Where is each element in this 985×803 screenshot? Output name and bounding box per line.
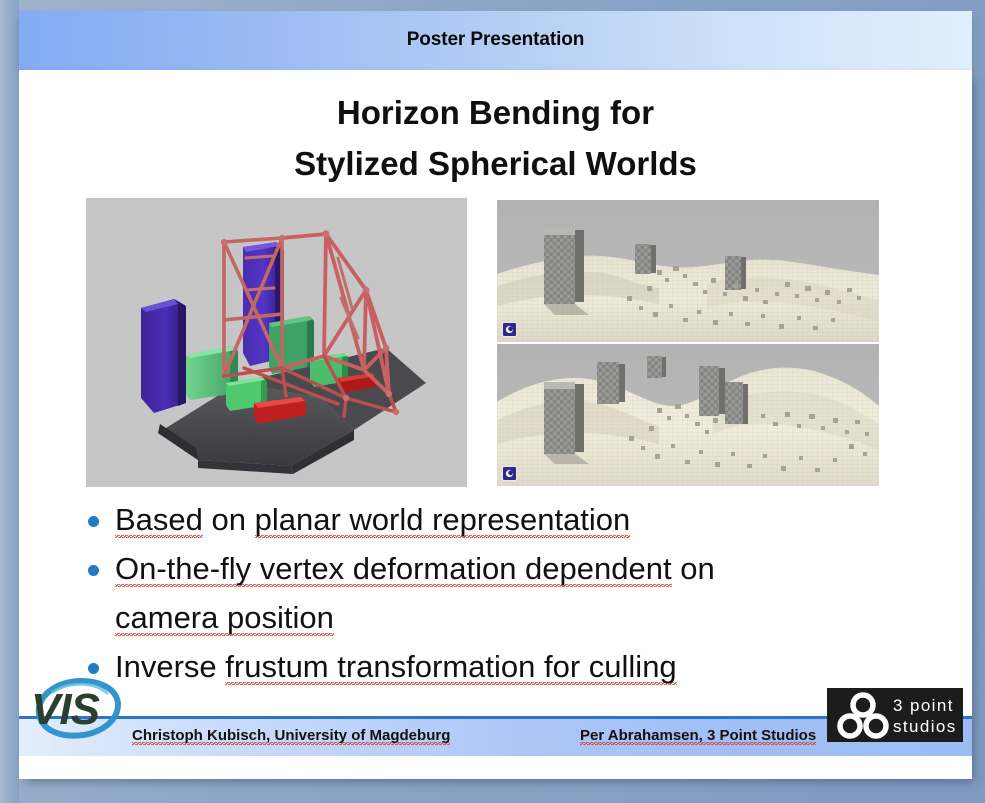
bullet-list: Based on planar world representationOn-t…: [71, 497, 921, 693]
figure-terrain-renders: [497, 200, 879, 487]
page-title: Poster Presentation: [19, 29, 972, 51]
plain-text: on: [203, 502, 255, 537]
terrain-bent-graphic: [497, 344, 879, 486]
render-watermark-icon: [502, 466, 517, 481]
vis-logo-graphic: VIS: [23, 672, 135, 754]
bullet-item: Based on planar world representation: [71, 497, 921, 543]
slide-title-line-1: Horizon Bending for: [19, 87, 972, 138]
terrain-tower: [544, 382, 589, 464]
figure-row: [19, 198, 972, 490]
footer-author-left-text: Christoph Kubisch, University of Magdebu…: [132, 727, 450, 748]
slide-title-line-2: Stylized Spherical Worlds: [19, 138, 972, 189]
footer-author-right: Per Abrahamsen, 3 Point Studios: [580, 727, 816, 744]
render-watermark-icon: [502, 322, 517, 337]
terrain-tower: [597, 362, 625, 404]
terrain-flat-graphic: [497, 200, 879, 342]
planar-world-render-graphic: [86, 198, 467, 487]
spellcheck-text: planar world representation: [255, 502, 631, 541]
terrain-tower: [647, 356, 666, 378]
terrain-tower: [635, 244, 656, 274]
bullet-item: camera position: [71, 595, 921, 641]
terrain-tower: [544, 228, 589, 315]
figure-planar-world-render: [86, 198, 467, 487]
vis-logo: VIS: [23, 672, 135, 754]
bullet-text: Inverse frustum transformation for culli…: [115, 649, 677, 688]
header-bar: Poster Presentation: [19, 11, 972, 70]
figure-terrain-bent-horizon: [497, 344, 879, 486]
footer-author-right-text: Per Abrahamsen, 3 Point Studios: [580, 727, 816, 748]
vis-logo-text: VIS: [31, 685, 100, 734]
slide-content-panel: Horizon Bending for Stylized Spherical W…: [19, 70, 972, 779]
bullet-item: Inverse frustum transformation for culli…: [71, 644, 921, 690]
bullet-dot-icon: [88, 516, 99, 527]
bullet-text: Based on planar world representation: [115, 502, 630, 541]
slide-title: Horizon Bending for Stylized Spherical W…: [19, 87, 972, 189]
bullet-item: On-the-fly vertex deformation dependent …: [71, 546, 921, 592]
bullet-dot-icon: [88, 565, 99, 576]
three-point-studios-graphic: 3 point studios: [827, 688, 963, 742]
three-point-logo-line-1: 3 point: [893, 696, 954, 715]
spellcheck-text: Based: [115, 502, 203, 541]
bullet-text: camera position: [115, 600, 334, 639]
footer-author-left: Christoph Kubisch, University of Magdebu…: [132, 727, 450, 744]
slide-frame: Poster Presentation Horizon Bending for …: [0, 0, 985, 803]
terrain-tower: [725, 382, 748, 424]
plain-text: on: [672, 551, 715, 586]
three-point-studios-logo: 3 point studios: [827, 688, 963, 742]
terrain-tower: [699, 366, 725, 416]
bullet-text: On-the-fly vertex deformation dependent …: [115, 551, 715, 590]
three-point-logo-line-2: studios: [893, 717, 957, 736]
spellcheck-text: camera position: [115, 600, 334, 639]
figure-terrain-flat-horizon: [497, 200, 879, 342]
spellcheck-text: frustum transformation for culling: [225, 649, 676, 688]
spellcheck-text: On-the-fly vertex deformation dependent: [115, 551, 672, 590]
